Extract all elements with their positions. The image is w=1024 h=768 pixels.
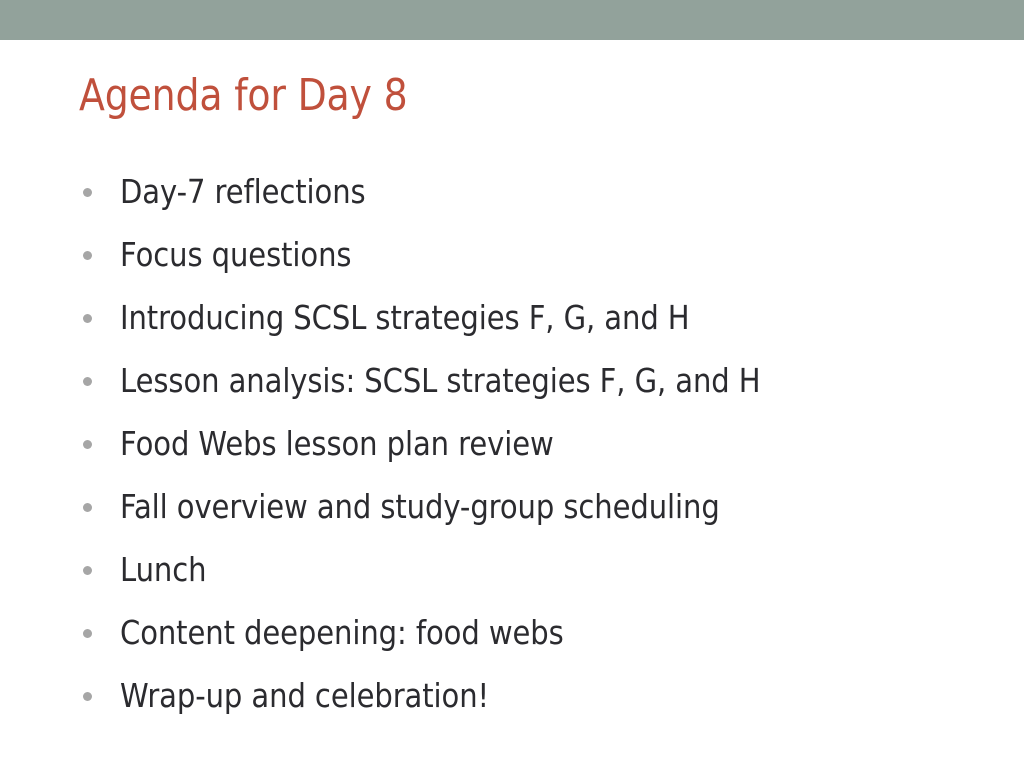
slide-title: Agenda for Day 8 bbox=[79, 70, 836, 122]
list-item: Introducing SCSL strategies F, G, and H bbox=[79, 286, 979, 349]
list-item-label: Day-7 reflections bbox=[120, 172, 366, 212]
list-item-label: Lesson analysis: SCSL strategies F, G, a… bbox=[120, 361, 761, 401]
bullet-dot-icon bbox=[83, 377, 92, 386]
bullet-dot-icon bbox=[83, 503, 92, 512]
bullet-dot-icon bbox=[83, 314, 92, 323]
bullet-dot-icon bbox=[83, 629, 92, 638]
list-item: Lunch bbox=[79, 538, 979, 601]
bullet-dot-icon bbox=[83, 566, 92, 575]
list-item-label: Food Webs lesson plan review bbox=[120, 424, 554, 464]
list-item: Fall overview and study-group scheduling bbox=[79, 475, 979, 538]
list-item-label: Wrap-up and celebration! bbox=[120, 676, 489, 716]
list-item: Food Webs lesson plan review bbox=[79, 412, 979, 475]
bullet-dot-icon bbox=[83, 440, 92, 449]
list-item-label: Lunch bbox=[120, 550, 206, 590]
list-item-label: Focus questions bbox=[120, 235, 351, 275]
agenda-bullet-list: Day-7 reflections Focus questions Introd… bbox=[79, 160, 979, 727]
presentation-slide: Agenda for Day 8 Day-7 reflections Focus… bbox=[0, 0, 1024, 768]
list-item-label: Fall overview and study-group scheduling bbox=[120, 487, 720, 527]
bullet-dot-icon bbox=[83, 188, 92, 197]
list-item: Content deepening: food webs bbox=[79, 601, 979, 664]
list-item-label: Content deepening: food webs bbox=[120, 613, 564, 653]
bullet-dot-icon bbox=[83, 251, 92, 260]
list-item: Focus questions bbox=[79, 223, 979, 286]
list-item-label: Introducing SCSL strategies F, G, and H bbox=[120, 298, 690, 338]
list-item: Wrap-up and celebration! bbox=[79, 664, 979, 727]
list-item: Lesson analysis: SCSL strategies F, G, a… bbox=[79, 349, 979, 412]
slide-header-band bbox=[0, 0, 1024, 40]
list-item: Day-7 reflections bbox=[79, 160, 979, 223]
bullet-dot-icon bbox=[83, 692, 92, 701]
